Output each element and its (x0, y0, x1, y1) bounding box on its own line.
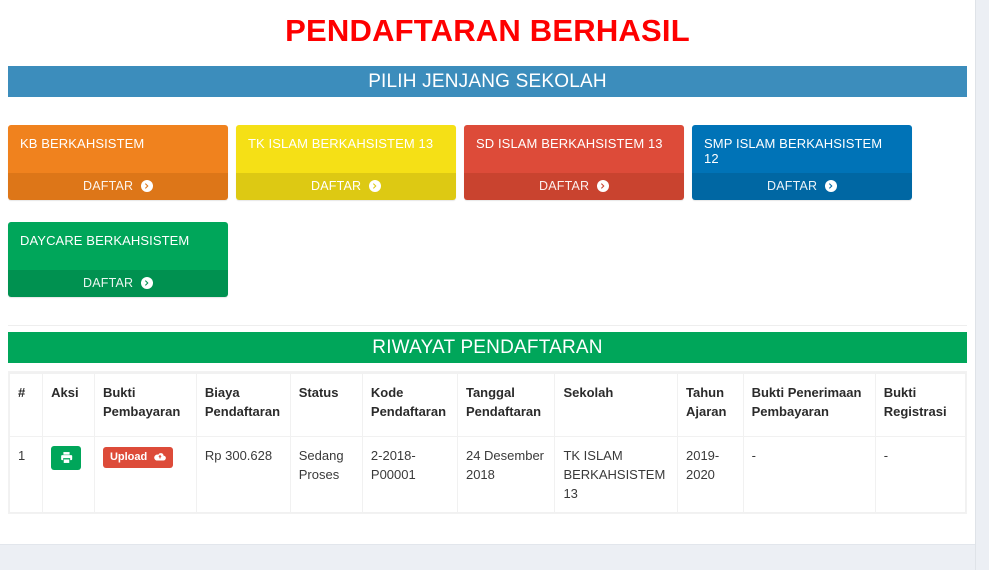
cell-sekolah: TK ISLAM BERKAHSISTEM 13 (555, 437, 678, 513)
cell-tanggal-pendaftaran: 24 Desember 2018 (457, 437, 554, 513)
table-body: 1 (10, 437, 966, 513)
upload-label: Upload (110, 451, 147, 463)
column-header-status: Status (290, 373, 362, 437)
cell-aksi (43, 437, 95, 513)
jenjang-card-tk[interactable]: TK ISLAM BERKAHSISTEM 13 DAFTAR (236, 125, 456, 200)
column-header-kode-pendaftaran: Kode Pendaftaran (362, 373, 457, 437)
jenjang-card-title: TK ISLAM BERKAHSISTEM 13 (236, 125, 456, 173)
column-header-tahun-ajaran: Tahun Ajaran (677, 373, 743, 437)
jenjang-section-banner: PILIH JENJANG SEKOLAH (8, 66, 967, 97)
cell-tahun-ajaran: 2019-2020 (677, 437, 743, 513)
page-scrollbar[interactable] (975, 0, 989, 570)
printer-icon (60, 450, 73, 465)
column-header-aksi: Aksi (43, 373, 95, 437)
arrow-circle-right-icon (369, 175, 381, 200)
jenjang-card-kb[interactable]: KB BERKAHSISTEM DAFTAR (8, 125, 228, 200)
column-header-sekolah: Sekolah (555, 373, 678, 437)
jenjang-daftar-button-kb[interactable]: DAFTAR (8, 173, 228, 200)
jenjang-card-title: SMP ISLAM BERKAHSISTEM 12 (692, 125, 912, 173)
section-divider (8, 325, 967, 326)
arrow-circle-right-icon (825, 175, 837, 200)
upload-button[interactable]: Upload (103, 447, 173, 468)
jenjang-card-sd[interactable]: SD ISLAM BERKAHSISTEM 13 DAFTAR (464, 125, 684, 200)
daftar-label: DAFTAR (311, 179, 361, 193)
cell-bukti-penerimaan-pembayaran: - (743, 437, 875, 513)
cell-kode-pendaftaran: 2-2018-P00001 (362, 437, 457, 513)
jenjang-card-title: DAYCARE BERKAHSISTEM (8, 222, 228, 270)
riwayat-section-banner: RIWAYAT PENDAFTARAN (8, 332, 967, 363)
print-button[interactable] (51, 446, 81, 470)
arrow-circle-right-icon (141, 175, 153, 200)
column-header-bukti-registrasi: Bukti Registrasi (875, 373, 965, 437)
riwayat-table-container: # Aksi Bukti Pembayaran Biaya Pendaftara… (8, 371, 967, 514)
page-container: PENDAFTARAN BERHASIL PILIH JENJANG SEKOL… (0, 0, 975, 570)
jenjang-card-smp[interactable]: SMP ISLAM BERKAHSISTEM 12 DAFTAR (692, 125, 912, 200)
jenjang-card-grid: KB BERKAHSISTEM DAFTAR TK ISLAM BERKAHSI… (8, 97, 967, 319)
cell-bukti-registrasi: - (875, 437, 965, 513)
column-header-biaya-pendaftaran: Biaya Pendaftaran (196, 373, 290, 437)
cell-biaya-pendaftaran: Rp 300.628 (196, 437, 290, 513)
column-header-tanggal-pendaftaran: Tanggal Pendaftaran (457, 373, 554, 437)
daftar-label: DAFTAR (83, 276, 133, 290)
jenjang-card-title: KB BERKAHSISTEM (8, 125, 228, 173)
jenjang-daftar-button-tk[interactable]: DAFTAR (236, 173, 456, 200)
jenjang-card-title: SD ISLAM BERKAHSISTEM 13 (464, 125, 684, 173)
column-header-bukti-pembayaran: Bukti Pembayaran (94, 373, 196, 437)
daftar-label: DAFTAR (539, 179, 589, 193)
arrow-circle-right-icon (141, 272, 153, 297)
column-header-bukti-penerimaan-pembayaran: Bukti Penerimaan Pembayaran (743, 373, 875, 437)
cell-status: Sedang Proses (290, 437, 362, 513)
daftar-label: DAFTAR (83, 179, 133, 193)
cell-no: 1 (10, 437, 43, 513)
column-header-no: # (10, 373, 43, 437)
table-row: 1 (10, 437, 966, 513)
jenjang-daftar-button-smp[interactable]: DAFTAR (692, 173, 912, 200)
cell-bukti-pembayaran: Upload (94, 437, 196, 513)
daftar-label: DAFTAR (767, 179, 817, 193)
jenjang-daftar-button-daycare[interactable]: DAFTAR (8, 270, 228, 297)
table-head: # Aksi Bukti Pembayaran Biaya Pendaftara… (10, 373, 966, 437)
footer-strip (0, 544, 975, 570)
riwayat-table: # Aksi Bukti Pembayaran Biaya Pendaftara… (9, 372, 966, 513)
cloud-upload-icon (154, 449, 166, 470)
page-title: PENDAFTARAN BERHASIL (0, 0, 975, 60)
jenjang-card-daycare[interactable]: DAYCARE BERKAHSISTEM DAFTAR (8, 222, 228, 297)
jenjang-daftar-button-sd[interactable]: DAFTAR (464, 173, 684, 200)
arrow-circle-right-icon (597, 175, 609, 200)
table-header-row: # Aksi Bukti Pembayaran Biaya Pendaftara… (10, 373, 966, 437)
